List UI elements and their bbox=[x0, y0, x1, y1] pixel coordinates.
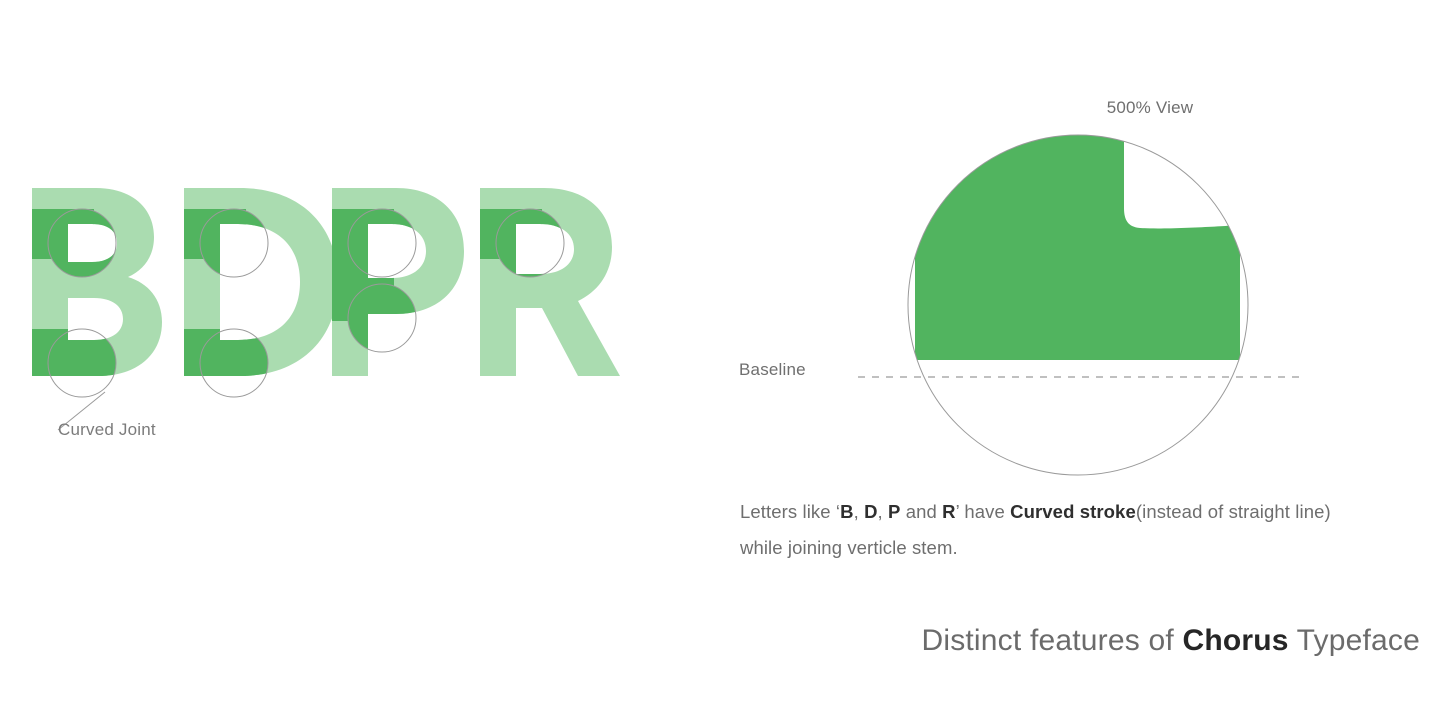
curved-joint-label: Curved Joint bbox=[58, 420, 156, 440]
desc-letter-b: B bbox=[840, 501, 853, 522]
desc-emphasis-curved-stroke: Curved stroke bbox=[1010, 501, 1136, 522]
specimen-canvas: Curved Joint 500% View Baseline Let bbox=[0, 0, 1440, 720]
desc-sep-2: , bbox=[878, 501, 888, 522]
magnifier-panel: 500% View Baseline Letters like ‘B, D, P… bbox=[700, 0, 1440, 720]
letterform-panel: Curved Joint bbox=[0, 0, 700, 720]
desc-sep-3: and bbox=[900, 501, 942, 522]
headline-suffix: Typeface bbox=[1289, 624, 1420, 657]
specimen-headline: Distinct features of Chorus Typeface bbox=[740, 624, 1420, 658]
desc-part-1: Letters like ‘ bbox=[740, 501, 840, 522]
desc-letter-r: R bbox=[942, 501, 955, 522]
description-paragraph: Letters like ‘B, D, P and R’ have Curved… bbox=[740, 494, 1370, 566]
desc-sep-1: , bbox=[854, 501, 864, 522]
desc-letter-d: D bbox=[864, 501, 877, 522]
headline-brand-name: Chorus bbox=[1182, 624, 1288, 657]
desc-letter-p: P bbox=[888, 501, 900, 522]
letterforms-diagram bbox=[20, 180, 640, 460]
headline-prefix: Distinct features of bbox=[921, 624, 1182, 657]
magnified-joint-diagram bbox=[840, 120, 1440, 500]
desc-part-2: ’ have bbox=[956, 501, 1011, 522]
baseline-label: Baseline bbox=[739, 360, 806, 380]
zoom-level-label: 500% View bbox=[1040, 98, 1260, 118]
